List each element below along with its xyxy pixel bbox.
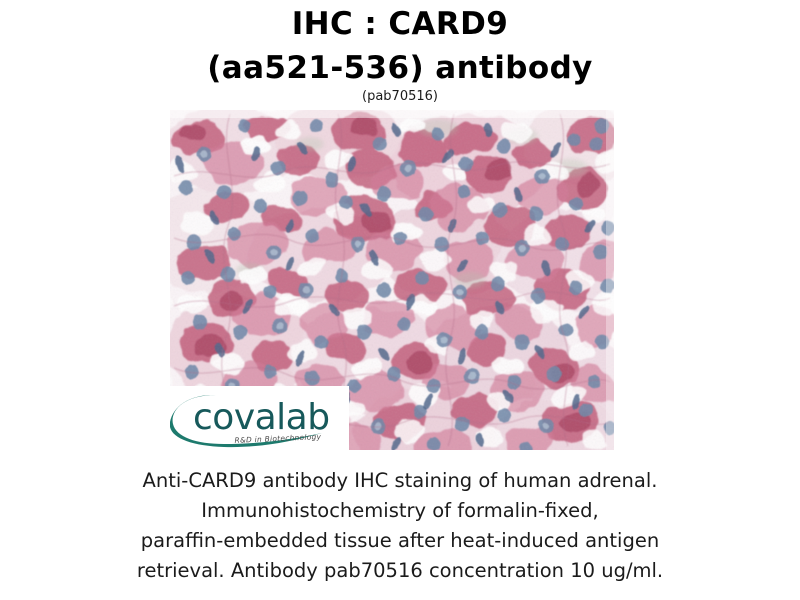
product-image-card: IHC : CARD9 (aa521-536) antibody (pab705…: [0, 0, 800, 600]
caption-line: retrieval. Antibody pab70516 concentrati…: [60, 556, 740, 586]
covalab-logo-svg: covalab R&D in Biotechnology: [170, 386, 349, 450]
caption-line: Anti-CARD9 antibody IHC staining of huma…: [60, 466, 740, 496]
ihc-micrograph: covalab R&D in Biotechnology: [170, 110, 614, 450]
title-line-secondary: (aa521-536) antibody: [0, 48, 800, 88]
caption-line: paraffin-embedded tissue after heat-indu…: [60, 526, 740, 556]
caption-line: Immunohistochemistry of formalin-fixed,: [60, 496, 740, 526]
figure-caption: Anti-CARD9 antibody IHC staining of huma…: [60, 466, 740, 586]
catalog-code: (pab70516): [0, 89, 800, 105]
page-title: IHC : CARD9 (aa521-536) antibody (pab705…: [0, 0, 800, 105]
edge-fade-right: [606, 110, 614, 450]
edge-fade-top: [170, 110, 614, 118]
covalab-logo: covalab R&D in Biotechnology: [170, 386, 349, 450]
title-line-primary: IHC : CARD9: [0, 4, 800, 44]
